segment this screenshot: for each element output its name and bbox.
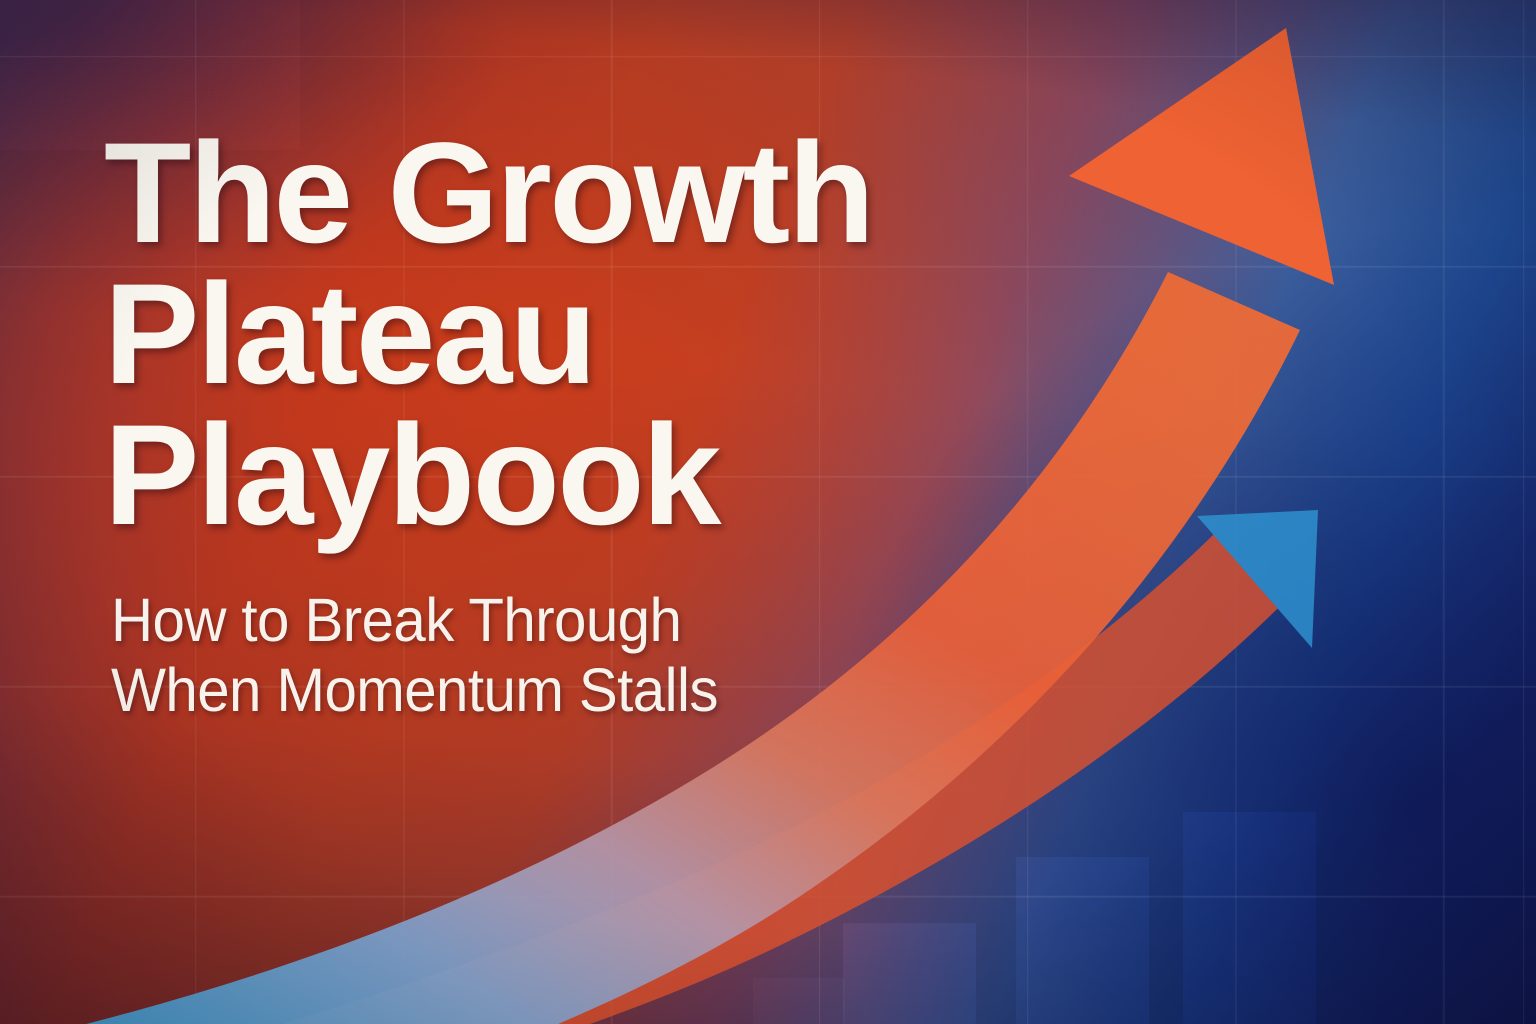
title-line-3: Playbook [104,406,1024,547]
subtitle-line-2: When Momentum Stalls [111,655,983,726]
title-line-2: Plateau [104,265,1024,406]
page-title: The Growth Plateau Playbook [104,124,1024,547]
page-subtitle: How to Break Through When Momentum Stall… [111,585,983,727]
poster-text-block: The Growth Plateau Playbook How to Break… [104,124,1024,726]
subtitle-line-1: How to Break Through [111,585,983,656]
poster-canvas: The Growth Plateau Playbook How to Break… [0,0,1536,1024]
title-line-1: The Growth [104,124,1024,265]
